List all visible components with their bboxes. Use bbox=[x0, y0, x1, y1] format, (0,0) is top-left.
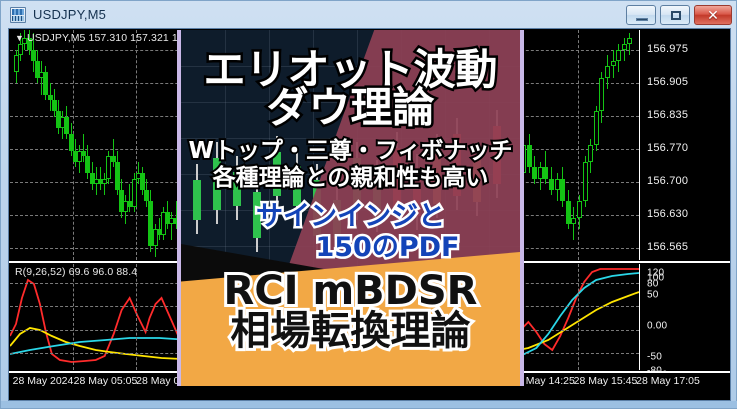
candle-wick bbox=[41, 61, 42, 95]
candle-body bbox=[144, 190, 149, 201]
candle-body bbox=[599, 78, 604, 112]
close-button[interactable]: ✕ bbox=[694, 5, 732, 25]
time-tick: 28 May 05:05 bbox=[74, 375, 138, 387]
close-icon: ✕ bbox=[695, 6, 731, 24]
rci-tick: 0.00 bbox=[647, 321, 667, 332]
window-frame: USDJPY,M5 ✕ ▼USDJPY,M5 157.310 157.321 1… bbox=[0, 0, 737, 409]
window-title: USDJPY,M5 bbox=[33, 7, 106, 22]
candle-wick bbox=[129, 184, 130, 212]
rci-tick: -50 bbox=[647, 351, 662, 362]
candle-wick bbox=[83, 134, 84, 162]
rci-tick: 50 bbox=[647, 290, 659, 301]
minimize-icon bbox=[636, 18, 648, 21]
price-tick: 156.835 bbox=[647, 109, 688, 121]
candle-body bbox=[588, 145, 593, 162]
metatrader-chart-icon bbox=[10, 7, 26, 23]
time-tick: 28 May 15:45 bbox=[574, 375, 638, 387]
candle-body bbox=[52, 100, 57, 111]
candle-body bbox=[140, 173, 145, 190]
candle-body bbox=[43, 72, 48, 94]
promo-overlay: エリオット波動 ダウ理論 Wトップ・三尊・フィボナッチ 各種理論との親和性も高い… bbox=[177, 30, 524, 386]
candle-wick bbox=[573, 207, 574, 241]
overlay-headline: エリオット波動 ダウ理論 bbox=[181, 50, 520, 129]
candle-body bbox=[69, 134, 74, 151]
candle-wick bbox=[624, 38, 625, 60]
price-tick: 156.565 bbox=[647, 241, 688, 253]
time-tick: 28 May 17:05 bbox=[636, 375, 700, 387]
price-tick: 156.975 bbox=[647, 43, 688, 55]
overlay-bottom-text: RCI mBDSR 相場転換理論 bbox=[181, 271, 520, 351]
candle-body bbox=[605, 66, 610, 77]
candle-body bbox=[85, 156, 90, 173]
candle-body bbox=[555, 179, 560, 190]
candle-wick bbox=[171, 212, 172, 240]
mt4-chart-window: USDJPY,M5 ✕ ▼USDJPY,M5 157.310 157.321 1… bbox=[0, 0, 737, 409]
price-axis: 156.975156.905156.835156.770156.700156.6… bbox=[640, 29, 730, 261]
candle-body bbox=[577, 201, 582, 218]
candle-body bbox=[31, 50, 36, 61]
candle-body bbox=[532, 167, 537, 178]
chart-collapse-icon[interactable]: ▼ bbox=[15, 33, 24, 43]
candle-wick bbox=[113, 139, 114, 167]
window-controls: ✕ bbox=[626, 5, 732, 25]
price-tick: 156.630 bbox=[647, 208, 688, 220]
maximize-button[interactable] bbox=[660, 5, 690, 25]
candle-body bbox=[115, 162, 120, 190]
overlay-subheadline: Wトップ・三尊・フィボナッチ 各種理論との親和性も高い bbox=[181, 138, 520, 192]
price-tick: 156.770 bbox=[647, 142, 688, 154]
candle-body bbox=[616, 50, 621, 61]
candle-body bbox=[622, 44, 627, 50]
candle-body bbox=[594, 111, 599, 145]
maximize-icon bbox=[671, 11, 681, 20]
candle-body bbox=[527, 145, 532, 167]
candle-body bbox=[18, 44, 23, 55]
status-bar bbox=[1, 401, 737, 408]
price-tick: 156.905 bbox=[647, 76, 688, 88]
gridline-vertical bbox=[136, 30, 137, 260]
minimize-button[interactable] bbox=[626, 5, 656, 25]
candle-body bbox=[538, 167, 543, 178]
candle-body bbox=[102, 179, 107, 185]
rci-tick: 80 bbox=[647, 278, 659, 289]
candle-body bbox=[14, 55, 19, 72]
candle-body bbox=[64, 117, 69, 134]
time-tick: 28 May 2024 bbox=[13, 375, 74, 387]
candle-body bbox=[560, 179, 565, 201]
candle-body bbox=[611, 61, 616, 67]
rci-axis: 12010080500.00-50-80-100 bbox=[640, 263, 730, 371]
rci-indicator-label: R(9,26,52) 69.6 96.0 88.4 bbox=[15, 266, 137, 278]
candle-body bbox=[571, 218, 576, 224]
candle-wick bbox=[104, 173, 105, 195]
candle-wick bbox=[629, 33, 630, 55]
candle-body bbox=[583, 162, 588, 201]
overlay-blue-text: サインインジと 150のPDF bbox=[181, 202, 520, 262]
price-tick: 156.700 bbox=[647, 175, 688, 187]
candle-body bbox=[543, 167, 548, 178]
chart-header-label: ▼USDJPY,M5 157.310 157.321 157. bbox=[15, 32, 193, 44]
candle-body bbox=[627, 38, 632, 44]
title-bar: USDJPY,M5 ✕ bbox=[1, 1, 737, 28]
candle-body bbox=[549, 179, 554, 190]
candle-body bbox=[566, 201, 571, 223]
candle-body bbox=[132, 179, 137, 207]
